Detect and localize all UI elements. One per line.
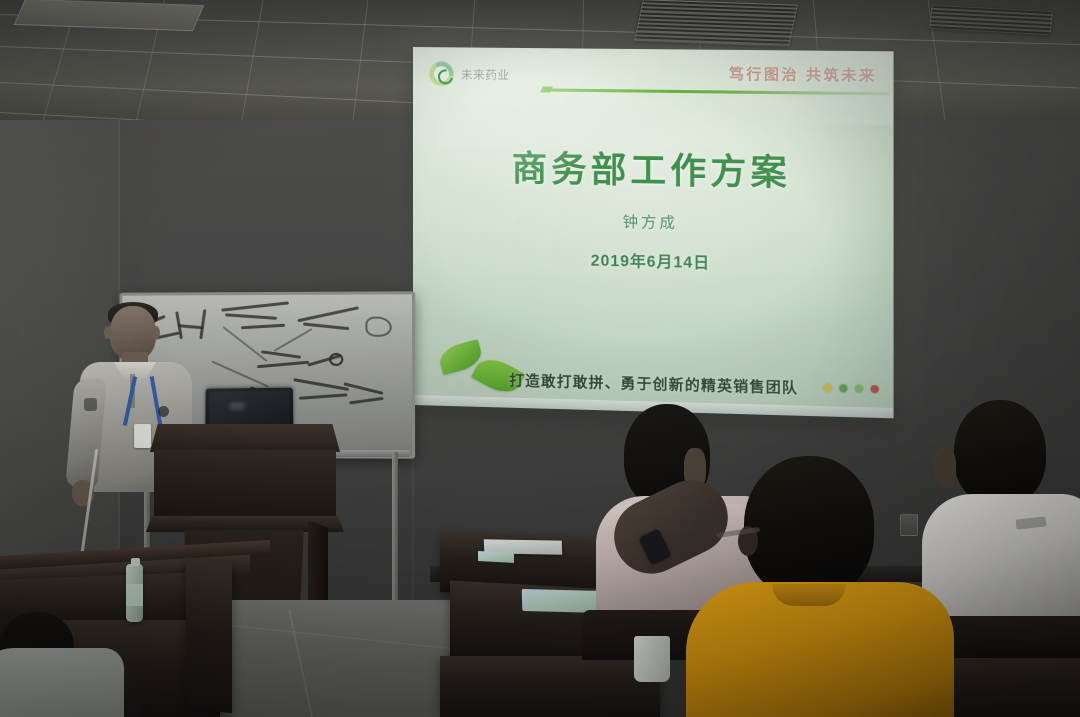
whiteboard-leg-right	[392, 452, 398, 602]
attendee-shirt	[0, 648, 124, 717]
attendee-polo-collar	[772, 584, 846, 606]
attendee-yellow-polo	[700, 456, 950, 717]
projection-screen: 未来药业 笃行图治 共筑未来 商务部工作方案 钟方成 2019年6月14日 打造…	[413, 47, 894, 418]
presenter-sleeve-logo	[84, 398, 97, 411]
ceiling-air-vent	[634, 0, 798, 47]
presenter-ear-left	[104, 326, 112, 339]
water-bottle-cap	[131, 558, 140, 566]
handout-image-1	[478, 551, 514, 563]
presenter-chest-logo	[158, 406, 169, 417]
attendee-white-shirt	[930, 400, 1080, 650]
desk-left-side-panel	[186, 557, 232, 713]
podium-front-panel	[154, 450, 336, 520]
podium-top	[150, 424, 340, 452]
presenter-badge	[134, 424, 151, 448]
attendee-foreground-pale-shoulder	[0, 648, 120, 717]
attendee-head	[744, 456, 874, 598]
water-bottle-label	[126, 584, 143, 606]
desk-middle-base	[440, 656, 660, 717]
laptop-screen	[209, 391, 289, 426]
photo-canvas: 未来药业 笃行图治 共筑未来 商务部工作方案 钟方成 2019年6月14日 打造…	[0, 0, 1080, 717]
laptop-screen-glint	[229, 402, 245, 410]
laptop	[205, 388, 293, 429]
attendee-head	[954, 400, 1046, 506]
paper-cup	[634, 636, 670, 682]
ceiling-air-vent-2	[929, 5, 1053, 35]
ceiling-light-panel	[14, 0, 205, 31]
presenter-ear-right	[152, 326, 160, 339]
screen-vignette	[413, 47, 894, 418]
